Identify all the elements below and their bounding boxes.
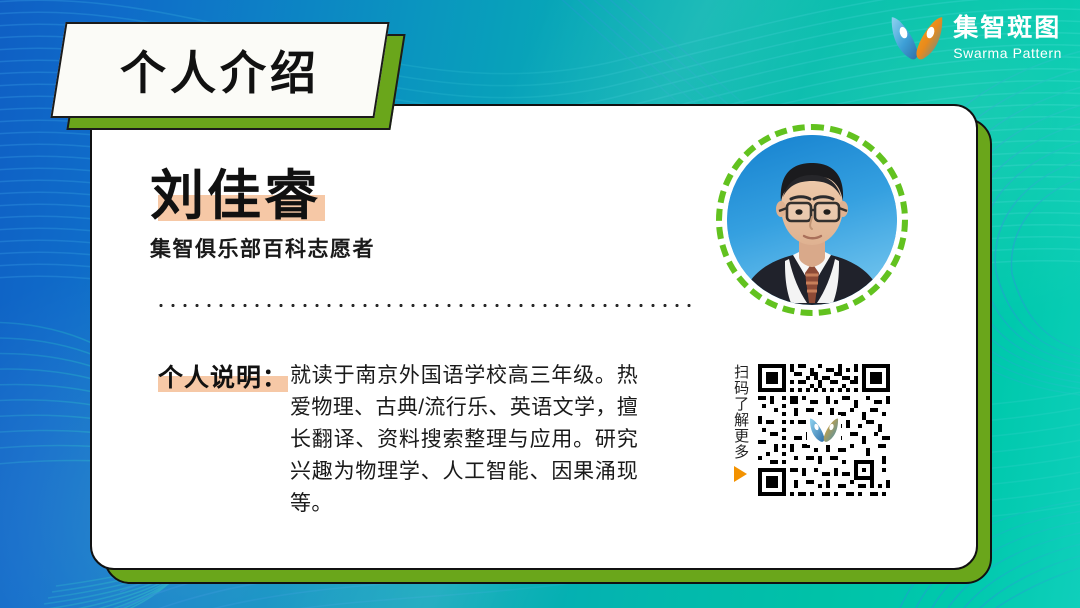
qr-block[interactable]: 扫码了解更多 bbox=[730, 364, 890, 496]
page-title: 个人介绍 bbox=[120, 37, 320, 103]
brand-logo-text: 集智斑图 Swarma Pattern bbox=[953, 16, 1062, 60]
name-block: 刘佳睿 集智俱乐部百科志愿者 bbox=[150, 168, 550, 263]
avatar-portrait-icon bbox=[727, 135, 897, 305]
description-label-wrap: 个人说明： bbox=[158, 358, 288, 394]
avatar bbox=[716, 124, 908, 316]
description-text: 就读于南京外国语学校高三年级。热爱物理、古典/流行乐、英语文学，擅长翻译、资料搜… bbox=[290, 360, 638, 520]
slide-canvas: 集智斑图 Swarma Pattern 个人介绍 刘佳睿 集智俱乐部百科志愿者 … bbox=[0, 0, 1080, 608]
section-banner: 个人介绍 bbox=[52, 22, 404, 130]
description-block: 个人说明： 就读于南京外国语学校高三年级。热爱物理、古典/流行乐、英语文学，擅长… bbox=[158, 358, 678, 520]
banner-white-plate: 个人介绍 bbox=[50, 22, 389, 118]
name-row: 刘佳睿 bbox=[150, 168, 321, 225]
brand-name-cn: 集智斑图 bbox=[953, 16, 1062, 41]
dotted-divider bbox=[155, 303, 691, 308]
qr-side-text: 扫码了解更多 bbox=[731, 364, 749, 460]
description-label: 个人说明： bbox=[158, 358, 288, 394]
play-triangle-icon bbox=[734, 466, 747, 482]
swarma-butterfly-logo-icon bbox=[890, 14, 944, 62]
profile-role: 集智俱乐部百科志愿者 bbox=[150, 233, 550, 263]
brand-name-en: Swarma Pattern bbox=[953, 46, 1062, 60]
avatar-photo bbox=[727, 135, 897, 305]
brand-logo: 集智斑图 Swarma Pattern bbox=[890, 14, 1062, 62]
qr-side-column: 扫码了解更多 bbox=[730, 364, 750, 482]
qr-center-logo bbox=[807, 415, 841, 445]
qr-code-icon[interactable] bbox=[758, 364, 890, 496]
profile-name: 刘佳睿 bbox=[150, 168, 321, 225]
swarma-butterfly-logo-icon bbox=[809, 417, 839, 443]
